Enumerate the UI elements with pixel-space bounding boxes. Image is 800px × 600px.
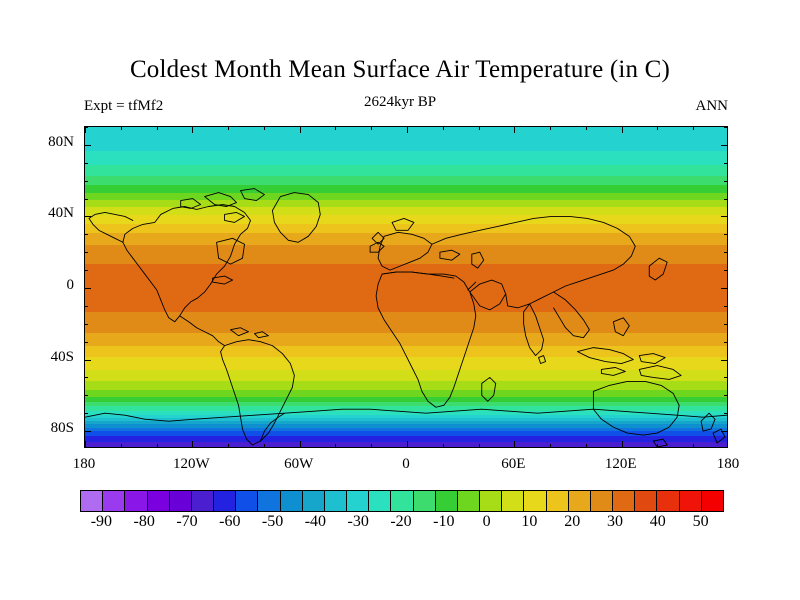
- x-minor-tick: [85, 444, 86, 448]
- y-minor-tick: [84, 270, 88, 271]
- x-minor-tick: [300, 444, 301, 448]
- y-minor-tick: [84, 413, 88, 414]
- x-minor-tick: [192, 126, 193, 130]
- x-minor-tick: [228, 444, 229, 448]
- y-minor-tick: [84, 163, 88, 164]
- colorbar-cell: [369, 491, 391, 511]
- colorbar-cell: [347, 491, 369, 511]
- x-minor-tick: [693, 126, 694, 130]
- y-minor-tick: [84, 288, 88, 289]
- y-minor-tick: [724, 163, 728, 164]
- colorbar-cell: [414, 491, 436, 511]
- y-minor-tick: [724, 199, 728, 200]
- y-minor-tick: [724, 431, 728, 432]
- colorbar-cell: [81, 491, 103, 511]
- map-plot-area: [84, 126, 728, 448]
- colorbar-cell: [436, 491, 458, 511]
- x-minor-tick: [443, 444, 444, 448]
- colorbar-cell: [170, 491, 192, 511]
- y-minor-tick: [724, 324, 728, 325]
- y-minor-tick: [724, 342, 728, 343]
- y-minor-tick: [724, 395, 728, 396]
- season-label: ANN: [696, 98, 729, 115]
- colorbar-tick-label: 50: [671, 513, 731, 531]
- colorbar-cell: [502, 491, 524, 511]
- figure-root: Coldest Month Mean Surface Air Temperatu…: [0, 0, 800, 600]
- colorbar-cell: [125, 491, 147, 511]
- x-minor-tick: [300, 126, 301, 130]
- colorbar: [80, 490, 724, 512]
- x-minor-tick: [264, 444, 265, 448]
- y-axis-label: 80S: [18, 420, 74, 437]
- y-axis-label: 0: [18, 277, 74, 294]
- colorbar-cell: [391, 491, 413, 511]
- y-minor-tick: [724, 288, 728, 289]
- y-minor-tick: [724, 360, 728, 361]
- x-minor-tick: [586, 444, 587, 448]
- y-minor-tick: [84, 342, 88, 343]
- y-minor-tick: [84, 377, 88, 378]
- y-minor-tick: [84, 306, 88, 307]
- x-axis-label: 120W: [156, 456, 226, 473]
- x-minor-tick: [479, 126, 480, 130]
- colorbar-cell: [569, 491, 591, 511]
- colorbar-cell: [524, 491, 546, 511]
- colorbar-cell: [657, 491, 679, 511]
- x-minor-tick: [550, 444, 551, 448]
- x-minor-tick: [121, 126, 122, 130]
- colorbar-cell: [680, 491, 702, 511]
- x-minor-tick: [371, 444, 372, 448]
- x-minor-tick: [622, 126, 623, 130]
- y-minor-tick: [724, 413, 728, 414]
- y-minor-tick: [84, 431, 88, 432]
- colorbar-cell: [214, 491, 236, 511]
- y-minor-tick: [84, 360, 88, 361]
- x-minor-tick: [586, 126, 587, 130]
- y-minor-tick: [84, 234, 88, 235]
- x-minor-tick: [192, 444, 193, 448]
- x-minor-tick: [514, 126, 515, 130]
- x-axis-label: 60W: [264, 456, 334, 473]
- y-minor-tick: [724, 377, 728, 378]
- y-minor-tick: [724, 234, 728, 235]
- coastline-overlay: [85, 127, 727, 447]
- x-axis-label: 120E: [586, 456, 656, 473]
- y-minor-tick: [84, 252, 88, 253]
- x-minor-tick: [622, 444, 623, 448]
- x-minor-tick: [228, 126, 229, 130]
- x-minor-tick: [479, 444, 480, 448]
- colorbar-cell: [325, 491, 347, 511]
- colorbar-cell: [303, 491, 325, 511]
- x-minor-tick: [550, 126, 551, 130]
- colorbar-cell: [547, 491, 569, 511]
- page-title: Coldest Month Mean Surface Air Temperatu…: [0, 56, 800, 84]
- x-axis-label: 180: [49, 456, 119, 473]
- x-minor-tick: [121, 444, 122, 448]
- y-axis-label: 40S: [18, 349, 74, 366]
- x-minor-tick: [157, 126, 158, 130]
- x-minor-tick: [264, 126, 265, 130]
- x-minor-tick: [157, 444, 158, 448]
- y-minor-tick: [724, 252, 728, 253]
- y-minor-tick: [724, 216, 728, 217]
- x-axis-label: 180: [693, 456, 763, 473]
- y-minor-tick: [84, 181, 88, 182]
- y-minor-tick: [724, 127, 728, 128]
- x-minor-tick: [85, 126, 86, 130]
- x-minor-tick: [371, 126, 372, 130]
- x-minor-tick: [443, 126, 444, 130]
- colorbar-cell: [702, 491, 723, 511]
- colorbar-cell: [635, 491, 657, 511]
- colorbar-cell: [258, 491, 280, 511]
- x-minor-tick: [693, 444, 694, 448]
- x-axis-label: 0: [371, 456, 441, 473]
- y-minor-tick: [724, 145, 728, 146]
- y-minor-tick: [84, 216, 88, 217]
- x-minor-tick: [407, 126, 408, 130]
- y-minor-tick: [724, 306, 728, 307]
- y-minor-tick: [84, 145, 88, 146]
- x-minor-tick: [514, 444, 515, 448]
- y-minor-tick: [84, 324, 88, 325]
- y-minor-tick: [724, 270, 728, 271]
- y-axis-label: 40N: [18, 205, 74, 222]
- x-minor-tick: [657, 444, 658, 448]
- colorbar-cell: [591, 491, 613, 511]
- y-minor-tick: [84, 395, 88, 396]
- colorbar-cell: [458, 491, 480, 511]
- colorbar-cell: [613, 491, 635, 511]
- y-minor-tick: [724, 181, 728, 182]
- y-minor-tick: [84, 199, 88, 200]
- colorbar-cell: [103, 491, 125, 511]
- colorbar-cell: [281, 491, 303, 511]
- x-minor-tick: [335, 444, 336, 448]
- x-minor-tick: [657, 126, 658, 130]
- period-label: 2624kyr BP: [0, 94, 800, 111]
- x-minor-tick: [407, 444, 408, 448]
- colorbar-cell: [480, 491, 502, 511]
- y-axis-label: 80N: [18, 134, 74, 151]
- colorbar-cell: [192, 491, 214, 511]
- colorbar-cell: [236, 491, 258, 511]
- x-axis-label: 60E: [478, 456, 548, 473]
- colorbar-cell: [148, 491, 170, 511]
- x-minor-tick: [335, 126, 336, 130]
